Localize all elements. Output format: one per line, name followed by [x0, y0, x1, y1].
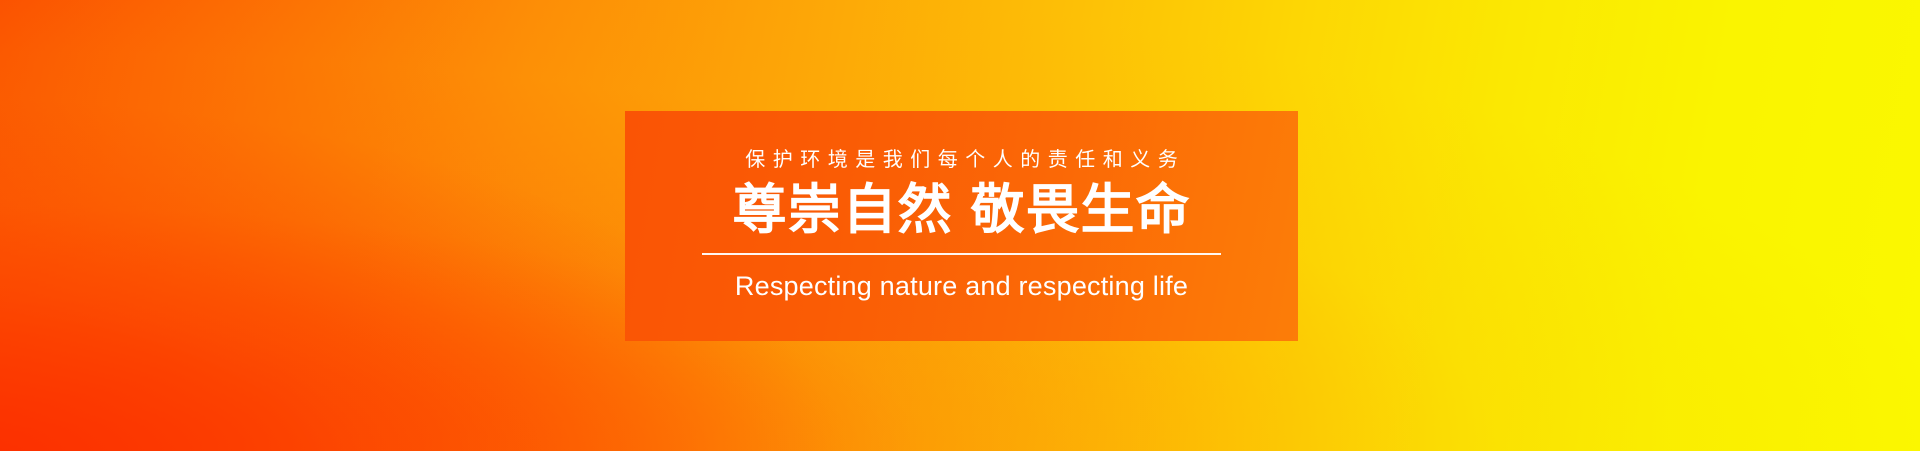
- eyebrow-text: 保护环境是我们每个人的责任和义务: [738, 150, 1186, 170]
- headline-part-1: 尊崇自然: [733, 180, 953, 240]
- slogan-card: 保护环境是我们每个人的责任和义务 尊崇自然敬畏生命 Respecting nat…: [625, 111, 1298, 341]
- environment-slogan-banner: 保护环境是我们每个人的责任和义务 尊崇自然敬畏生命 Respecting nat…: [0, 0, 1920, 451]
- headline-part-2: 敬畏生命: [971, 180, 1191, 240]
- slogan-card-content: 保护环境是我们每个人的责任和义务 尊崇自然敬畏生命 Respecting nat…: [625, 150, 1298, 302]
- headline: 尊崇自然敬畏生命: [733, 181, 1191, 239]
- headline-divider: [702, 253, 1221, 255]
- subline-english-text: Respecting nature and respecting life: [735, 272, 1188, 302]
